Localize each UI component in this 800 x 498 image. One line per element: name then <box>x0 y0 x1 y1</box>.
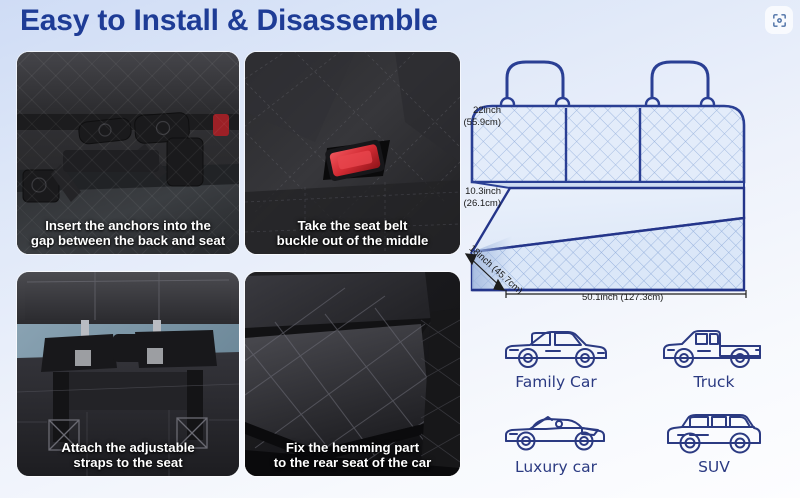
dimension-height-inch: 22inch <box>455 105 501 117</box>
vehicle-family-car-label: Family Car <box>515 373 597 391</box>
suv-car-icon <box>660 411 768 457</box>
convertible-car-icon <box>502 411 610 457</box>
dimension-skirt-cm: (26.1cm) <box>455 198 501 210</box>
page-title: Easy to Install & Disassemble <box>20 4 438 38</box>
scan-focus-icon <box>771 12 788 29</box>
dimension-height-cm: (55.9cm) <box>455 117 501 129</box>
step-photo-1-caption: Insert the anchors into the gap between … <box>17 218 239 249</box>
step-photo-4-caption: Fix the hemming part to the rear seat of… <box>245 440 460 471</box>
step-photo-2: Take the seat belt buckle out of the mid… <box>245 52 460 254</box>
step-photo-1: Insert the anchors into the gap between … <box>17 52 239 254</box>
vehicle-truck-label: Truck <box>694 373 735 391</box>
caption-line-1: Take the seat belt <box>249 218 456 234</box>
sedan-car-icon <box>502 326 610 372</box>
vehicle-truck: Truck <box>638 326 790 409</box>
pickup-truck-icon <box>660 326 768 372</box>
caption-line-1: Insert the anchors into the <box>21 218 235 234</box>
dimension-width-label: 50.1inch (127.3cm) <box>582 292 663 304</box>
caption-line-2: gap between the back and seat <box>21 233 235 249</box>
vehicle-suv-label: SUV <box>698 458 730 476</box>
dimension-height-label: 22inch (55.9cm) <box>455 105 501 128</box>
caption-line-2: to the rear seat of the car <box>249 455 456 471</box>
step-photo-2-caption: Take the seat belt buckle out of the mid… <box>245 218 460 249</box>
step-photo-3-caption: Attach the adjustable straps to the seat <box>17 440 239 471</box>
product-infographic: Easy to Install & Disassemble <box>0 0 800 498</box>
vehicle-luxury-car-label: Luxury car <box>515 458 597 476</box>
caption-line-2: buckle out of the middle <box>249 233 456 249</box>
step-photo-3: Attach the adjustable straps to the seat <box>17 272 239 476</box>
vehicle-compatibility-list: Family Car Truck <box>480 326 790 494</box>
caption-line-1: Fix the hemming part <box>249 440 456 456</box>
vehicle-family-car: Family Car <box>480 326 632 409</box>
vehicle-luxury-car: Luxury car <box>480 411 632 494</box>
caption-line-2: straps to the seat <box>21 455 235 471</box>
scan-focus-badge[interactable] <box>765 6 793 34</box>
caption-line-1: Attach the adjustable <box>21 440 235 456</box>
dimension-skirt-inch: 10.3inch <box>455 186 501 198</box>
step-photo-4: Fix the hemming part to the rear seat of… <box>245 272 460 476</box>
dimension-skirt-label: 10.3inch (26.1cm) <box>455 186 501 209</box>
vehicle-suv: SUV <box>638 411 790 494</box>
